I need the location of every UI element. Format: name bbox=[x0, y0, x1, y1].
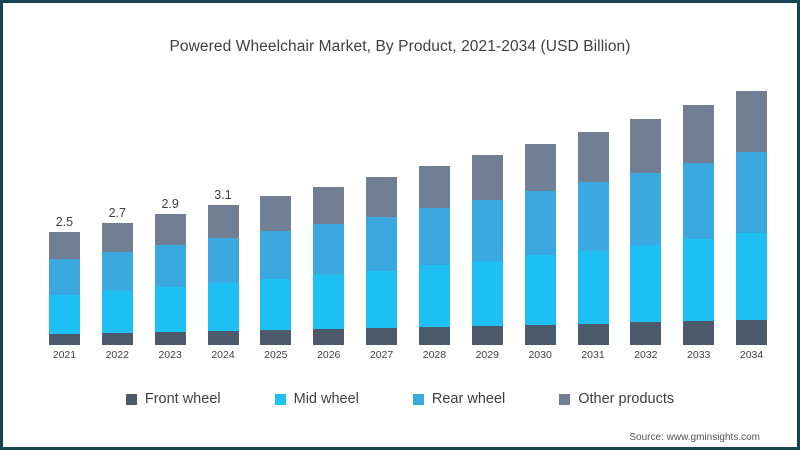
bar-segment bbox=[472, 155, 503, 200]
bar-segment bbox=[736, 233, 767, 319]
bar-segment bbox=[683, 105, 714, 163]
bar-segment bbox=[736, 320, 767, 345]
bar-segment bbox=[102, 333, 133, 345]
bar-segment bbox=[155, 332, 186, 345]
bar-segment bbox=[260, 231, 291, 279]
bar-segment bbox=[260, 279, 291, 330]
bar-segment bbox=[419, 208, 450, 266]
legend-swatch-icon bbox=[413, 394, 424, 405]
legend-swatch-icon bbox=[126, 394, 137, 405]
x-tick-2022: 2022 bbox=[94, 349, 140, 361]
bar-segment bbox=[155, 287, 186, 332]
bar-column bbox=[208, 205, 239, 345]
bar-column bbox=[366, 177, 397, 345]
legend-item-mid[interactable]: Mid wheel bbox=[275, 391, 359, 407]
bar-segment bbox=[155, 214, 186, 246]
bar-segment bbox=[472, 261, 503, 326]
bar-segment bbox=[525, 255, 556, 324]
bar-segment bbox=[260, 196, 291, 232]
legend-label: Front wheel bbox=[145, 391, 221, 407]
bar-column bbox=[313, 187, 344, 345]
bar-segment bbox=[313, 224, 344, 275]
chart-inner-panel: Powered Wheelchair Market, By Product, 2… bbox=[6, 6, 794, 444]
bar-segment bbox=[313, 275, 344, 329]
bar-segment bbox=[525, 191, 556, 256]
bar-segment bbox=[419, 327, 450, 345]
bar-value-label: 2.7 bbox=[94, 206, 140, 220]
x-tick-2031: 2031 bbox=[570, 349, 616, 361]
bar-segment bbox=[736, 91, 767, 152]
x-tick-2033: 2033 bbox=[676, 349, 722, 361]
chart-title: Powered Wheelchair Market, By Product, 2… bbox=[8, 38, 792, 56]
bar-segment bbox=[102, 223, 133, 252]
bar-segment bbox=[472, 326, 503, 345]
bar-segment bbox=[49, 232, 80, 259]
bar-segment bbox=[102, 252, 133, 291]
bar-segment bbox=[102, 291, 133, 333]
chart-frame: Powered Wheelchair Market, By Product, 2… bbox=[0, 0, 800, 450]
legend-swatch-icon bbox=[559, 394, 570, 405]
bar-segment bbox=[419, 265, 450, 327]
bar-segment bbox=[49, 334, 80, 345]
bar-segment bbox=[208, 331, 239, 345]
bar-segment bbox=[525, 325, 556, 345]
bar-segment bbox=[630, 245, 661, 322]
x-tick-2024: 2024 bbox=[200, 349, 246, 361]
legend-label: Mid wheel bbox=[294, 391, 359, 407]
bar-column bbox=[419, 166, 450, 345]
x-tick-2030: 2030 bbox=[517, 349, 563, 361]
source-attribution: Source: www.gminsights.com bbox=[629, 432, 760, 443]
chart-legend: Front wheelMid wheelRear wheelOther prod… bbox=[8, 391, 792, 407]
bar-segment bbox=[736, 152, 767, 233]
bar-segment bbox=[260, 330, 291, 345]
bar-column bbox=[630, 119, 661, 345]
bar-segment bbox=[208, 205, 239, 239]
bar-column bbox=[49, 232, 80, 345]
bar-segment bbox=[366, 328, 397, 345]
x-tick-2027: 2027 bbox=[359, 349, 405, 361]
bar-value-label: 2.9 bbox=[147, 197, 193, 211]
bar-segment bbox=[208, 283, 239, 331]
bar-column bbox=[683, 105, 714, 345]
bar-segment bbox=[155, 245, 186, 287]
x-tick-2023: 2023 bbox=[147, 349, 193, 361]
bar-segment bbox=[630, 119, 661, 173]
legend-item-front[interactable]: Front wheel bbox=[126, 391, 221, 407]
bar-segment bbox=[630, 322, 661, 345]
x-tick-2021: 2021 bbox=[41, 349, 87, 361]
legend-label: Rear wheel bbox=[432, 391, 505, 407]
bar-column bbox=[102, 223, 133, 345]
bar-segment bbox=[366, 177, 397, 216]
bar-segment bbox=[49, 295, 80, 333]
x-axis-tick-labels: 2021202220232024202520262027202820292030… bbox=[38, 349, 762, 367]
bar-segment bbox=[313, 187, 344, 225]
x-tick-2026: 2026 bbox=[306, 349, 352, 361]
bar-segment bbox=[313, 329, 344, 345]
bar-value-label: 3.1 bbox=[200, 188, 246, 202]
bar-segment bbox=[578, 182, 609, 250]
bar-segment bbox=[49, 259, 80, 295]
legend-item-rear[interactable]: Rear wheel bbox=[413, 391, 505, 407]
bar-segment bbox=[208, 238, 239, 283]
legend-swatch-icon bbox=[275, 394, 286, 405]
bar-column bbox=[472, 155, 503, 345]
x-tick-2034: 2034 bbox=[729, 349, 775, 361]
bar-column bbox=[260, 196, 291, 345]
bar-segment bbox=[578, 132, 609, 182]
bar-segment bbox=[525, 144, 556, 191]
bar-column bbox=[578, 132, 609, 345]
legend-label: Other products bbox=[578, 391, 674, 407]
bar-segment bbox=[366, 271, 397, 329]
bar-segment bbox=[578, 324, 609, 345]
bar-segment bbox=[578, 251, 609, 324]
x-tick-2029: 2029 bbox=[464, 349, 510, 361]
bar-segment bbox=[683, 239, 714, 321]
bar-segment bbox=[419, 166, 450, 208]
bar-segment bbox=[630, 173, 661, 245]
bar-column bbox=[736, 91, 767, 345]
x-tick-2025: 2025 bbox=[253, 349, 299, 361]
legend-item-other[interactable]: Other products bbox=[559, 391, 674, 407]
plot-area: 2.52.72.93.1 bbox=[38, 83, 762, 345]
bar-value-label: 2.5 bbox=[41, 215, 87, 229]
bar-segment bbox=[366, 217, 397, 271]
x-tick-2032: 2032 bbox=[623, 349, 669, 361]
bar-column bbox=[525, 144, 556, 346]
bar-segment bbox=[472, 200, 503, 261]
bar-segment bbox=[683, 163, 714, 240]
bar-segment bbox=[683, 321, 714, 345]
bar-column bbox=[155, 214, 186, 345]
x-tick-2028: 2028 bbox=[411, 349, 457, 361]
